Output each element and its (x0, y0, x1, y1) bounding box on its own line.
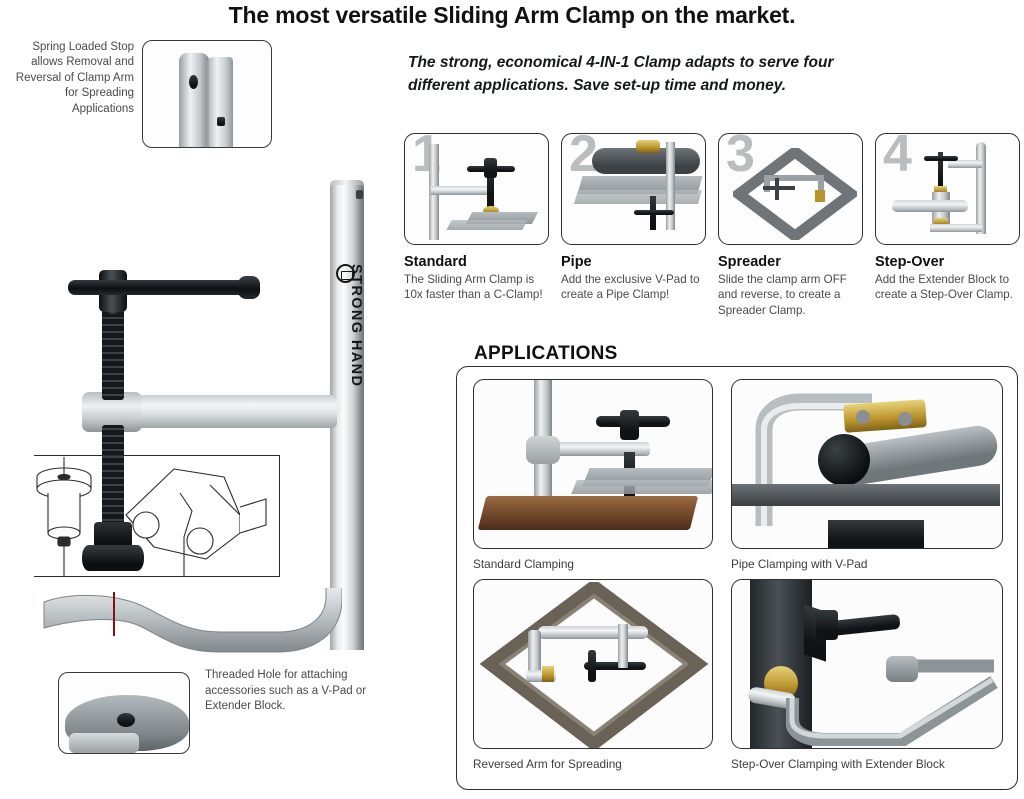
threaded-hole-note: Threaded Hole for attaching accessories … (205, 668, 385, 715)
application-1: Standard Clamping (473, 379, 713, 573)
application-4-image (731, 579, 1003, 749)
threaded-hole-photo (58, 672, 190, 754)
step-4-number: 4 (883, 133, 912, 180)
application-3-image (473, 579, 713, 749)
applications-container: Standard Clamping Pipe Clamping with V-P… (456, 366, 1018, 790)
v-pad-lineart-diagram (34, 455, 284, 580)
application-1-caption: Standard Clamping (473, 557, 713, 573)
step-3: 3 Spreader Slide the clamp arm OFF and r… (718, 133, 863, 318)
spring-loaded-stop-note: Spring Loaded Stop allows Removal and Re… (2, 40, 134, 117)
step-3-title: Spreader (718, 254, 863, 270)
application-2-image (731, 379, 1003, 549)
application-2: Pipe Clamping with V-Pad (731, 379, 1003, 573)
product-sheet: The most versatile Sliding Arm Clamp on … (0, 0, 1024, 799)
application-1-image (473, 379, 713, 549)
step-2: 2 Pipe Add the exclusive V-Pad to create… (561, 133, 706, 303)
lede-paragraph: The strong, economical 4-IN-1 Clamp adap… (408, 52, 838, 97)
step-1-title: Standard (404, 254, 549, 270)
step-4-image: 4 (875, 133, 1020, 245)
step-3-image: 3 (718, 133, 863, 245)
step-4-title: Step-Over (875, 254, 1020, 270)
screw-thread-upper (102, 300, 124, 400)
page-title: The most versatile Sliding Arm Clamp on … (0, 2, 1024, 29)
step-1-desc: The Sliding Arm Clamp is 10x faster than… (404, 272, 549, 303)
t-handle-bar (68, 280, 255, 295)
step-2-desc: Add the exclusive V-Pad to create a Pipe… (561, 272, 706, 303)
application-3-caption: Reversed Arm for Spreading (473, 757, 713, 773)
application-4-caption: Step-Over Clamping with Extender Block (731, 757, 1003, 773)
clamp-j-curve (42, 588, 342, 680)
step-4: 4 Step-Over Add the Extender Block to cr… (875, 133, 1020, 303)
application-4: Step-Over Clamping with Extender Block (731, 579, 1003, 773)
application-2-caption: Pipe Clamping with V-Pad (731, 557, 1003, 573)
step-1: 1 Standard The Sliding Arm Clamp is 10x … (404, 133, 549, 303)
step-3-desc: Slide the clamp arm OFF and reverse, to … (718, 272, 863, 318)
measurement-leader-line (113, 592, 115, 636)
clamp-bar-notch (356, 190, 363, 199)
step-4-desc: Add the Extender Block to create a Step-… (875, 272, 1020, 303)
t-handle-knob (238, 276, 260, 299)
applications-heading: APPLICATIONS (474, 343, 618, 365)
step-1-image: 1 (404, 133, 549, 245)
step-2-title: Pipe (561, 254, 706, 270)
application-3: Reversed Arm for Spreading (473, 579, 713, 773)
step-2-image: 2 (561, 133, 706, 245)
